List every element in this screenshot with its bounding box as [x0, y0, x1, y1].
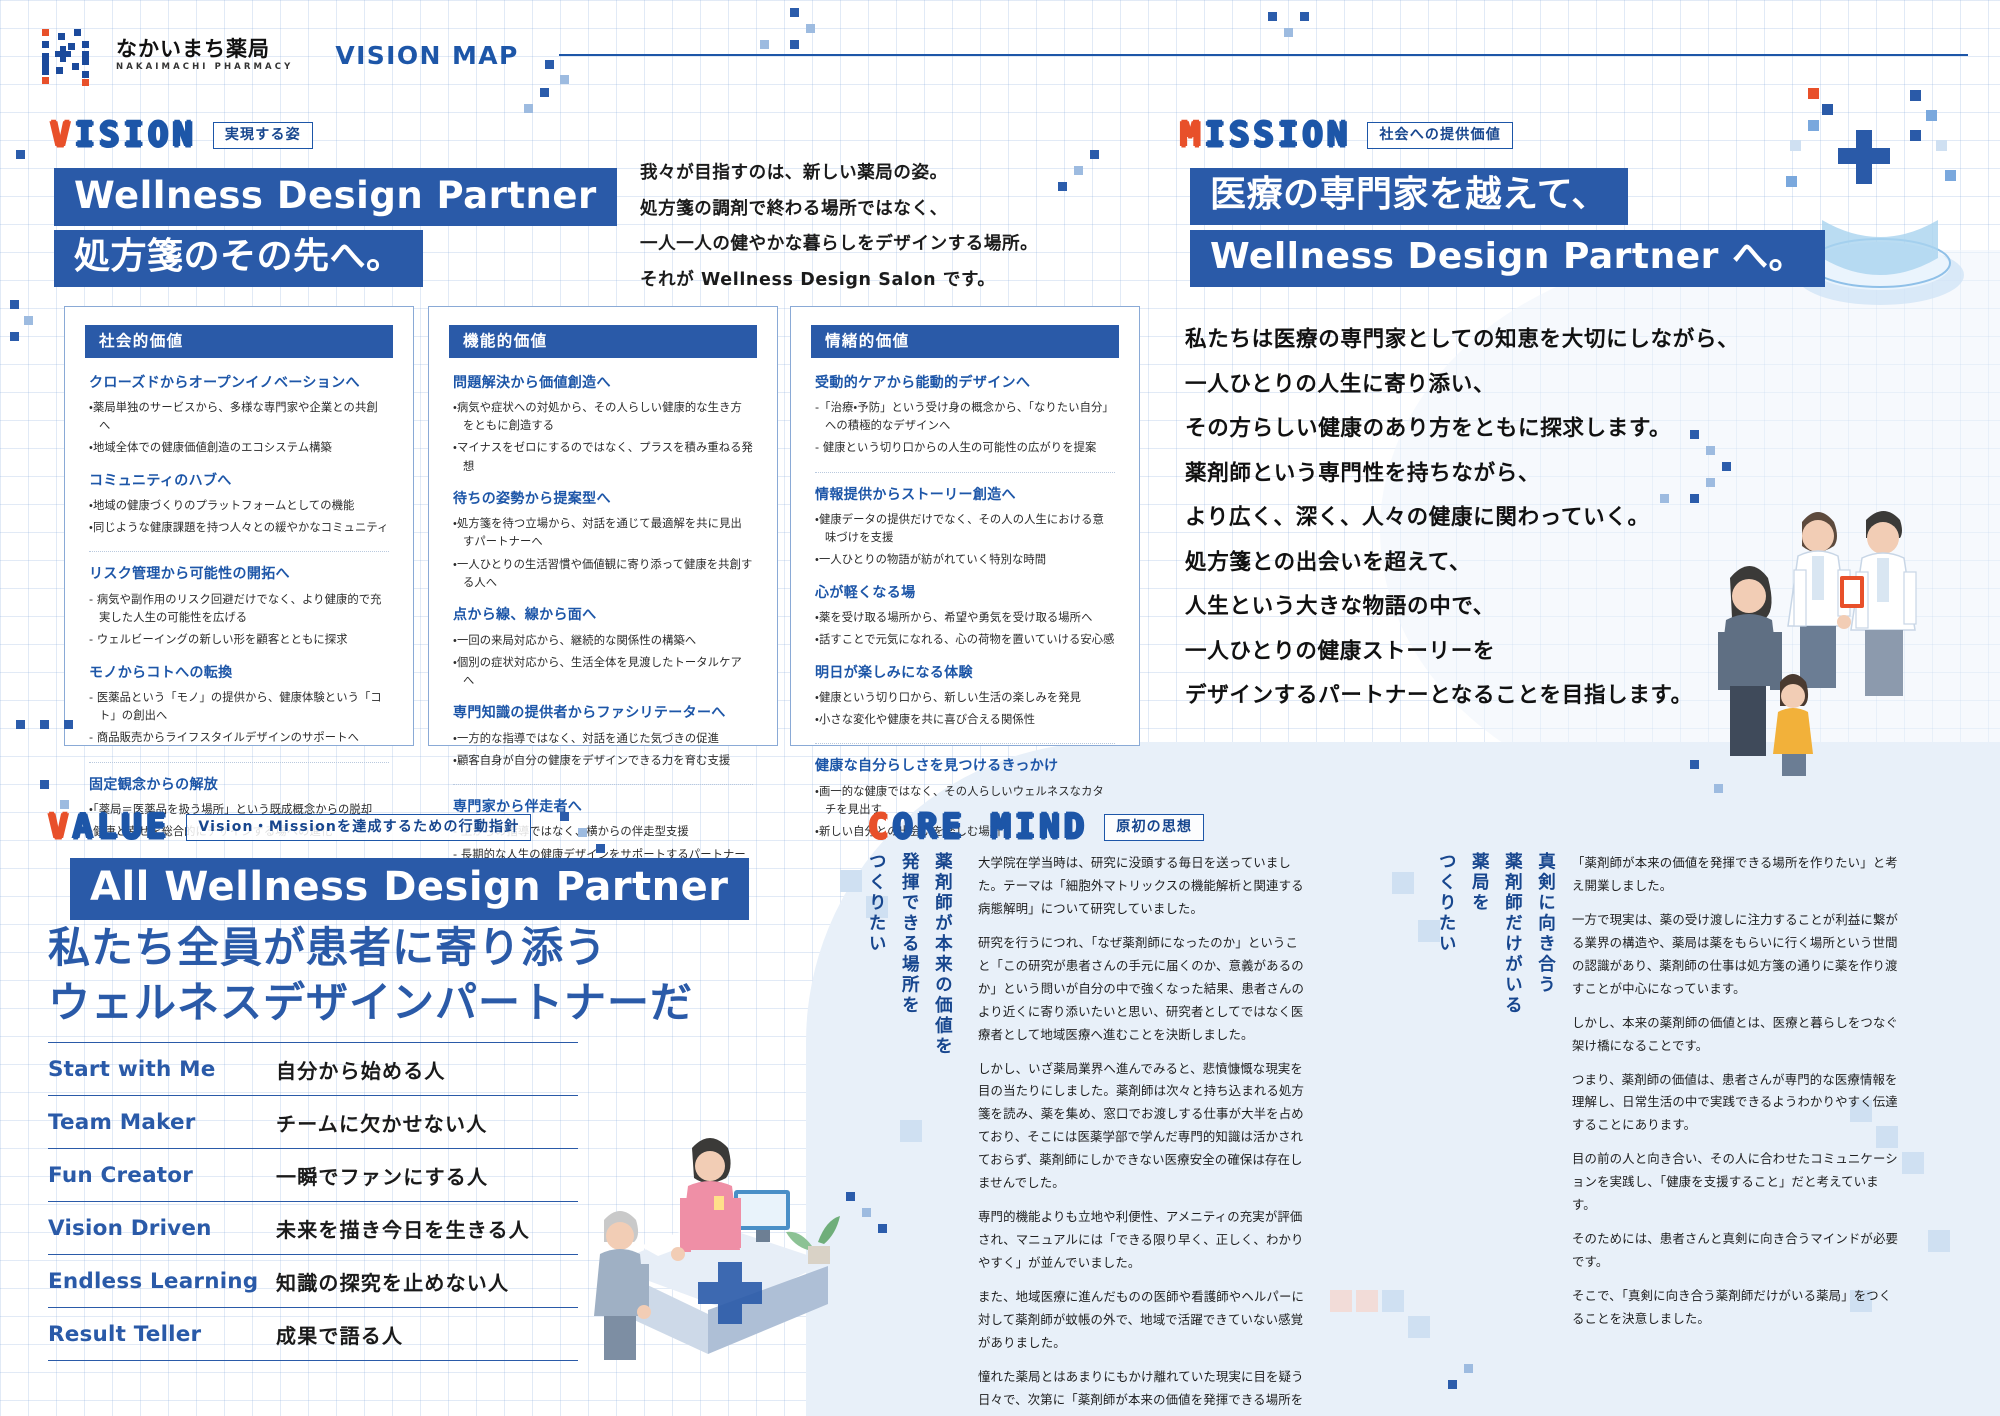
- pharmacy-logo-icon: [38, 27, 94, 83]
- vision-map-page: なかいまち薬局 NAKAIMACHI PHARMACY VISION MAP V…: [0, 0, 2000, 1416]
- decorative-squares: [0, 0, 2000, 1416]
- header-divider: [559, 54, 1968, 57]
- page-header: なかいまち薬局 NAKAIMACHI PHARMACY VISION MAP: [38, 20, 1968, 90]
- logo-text: なかいまち薬局 NAKAIMACHI PHARMACY: [116, 37, 293, 72]
- page-title: VISION MAP: [335, 41, 518, 70]
- logo-name-en: NAKAIMACHI PHARMACY: [116, 62, 293, 73]
- logo-name-jp: なかいまち薬局: [116, 37, 293, 61]
